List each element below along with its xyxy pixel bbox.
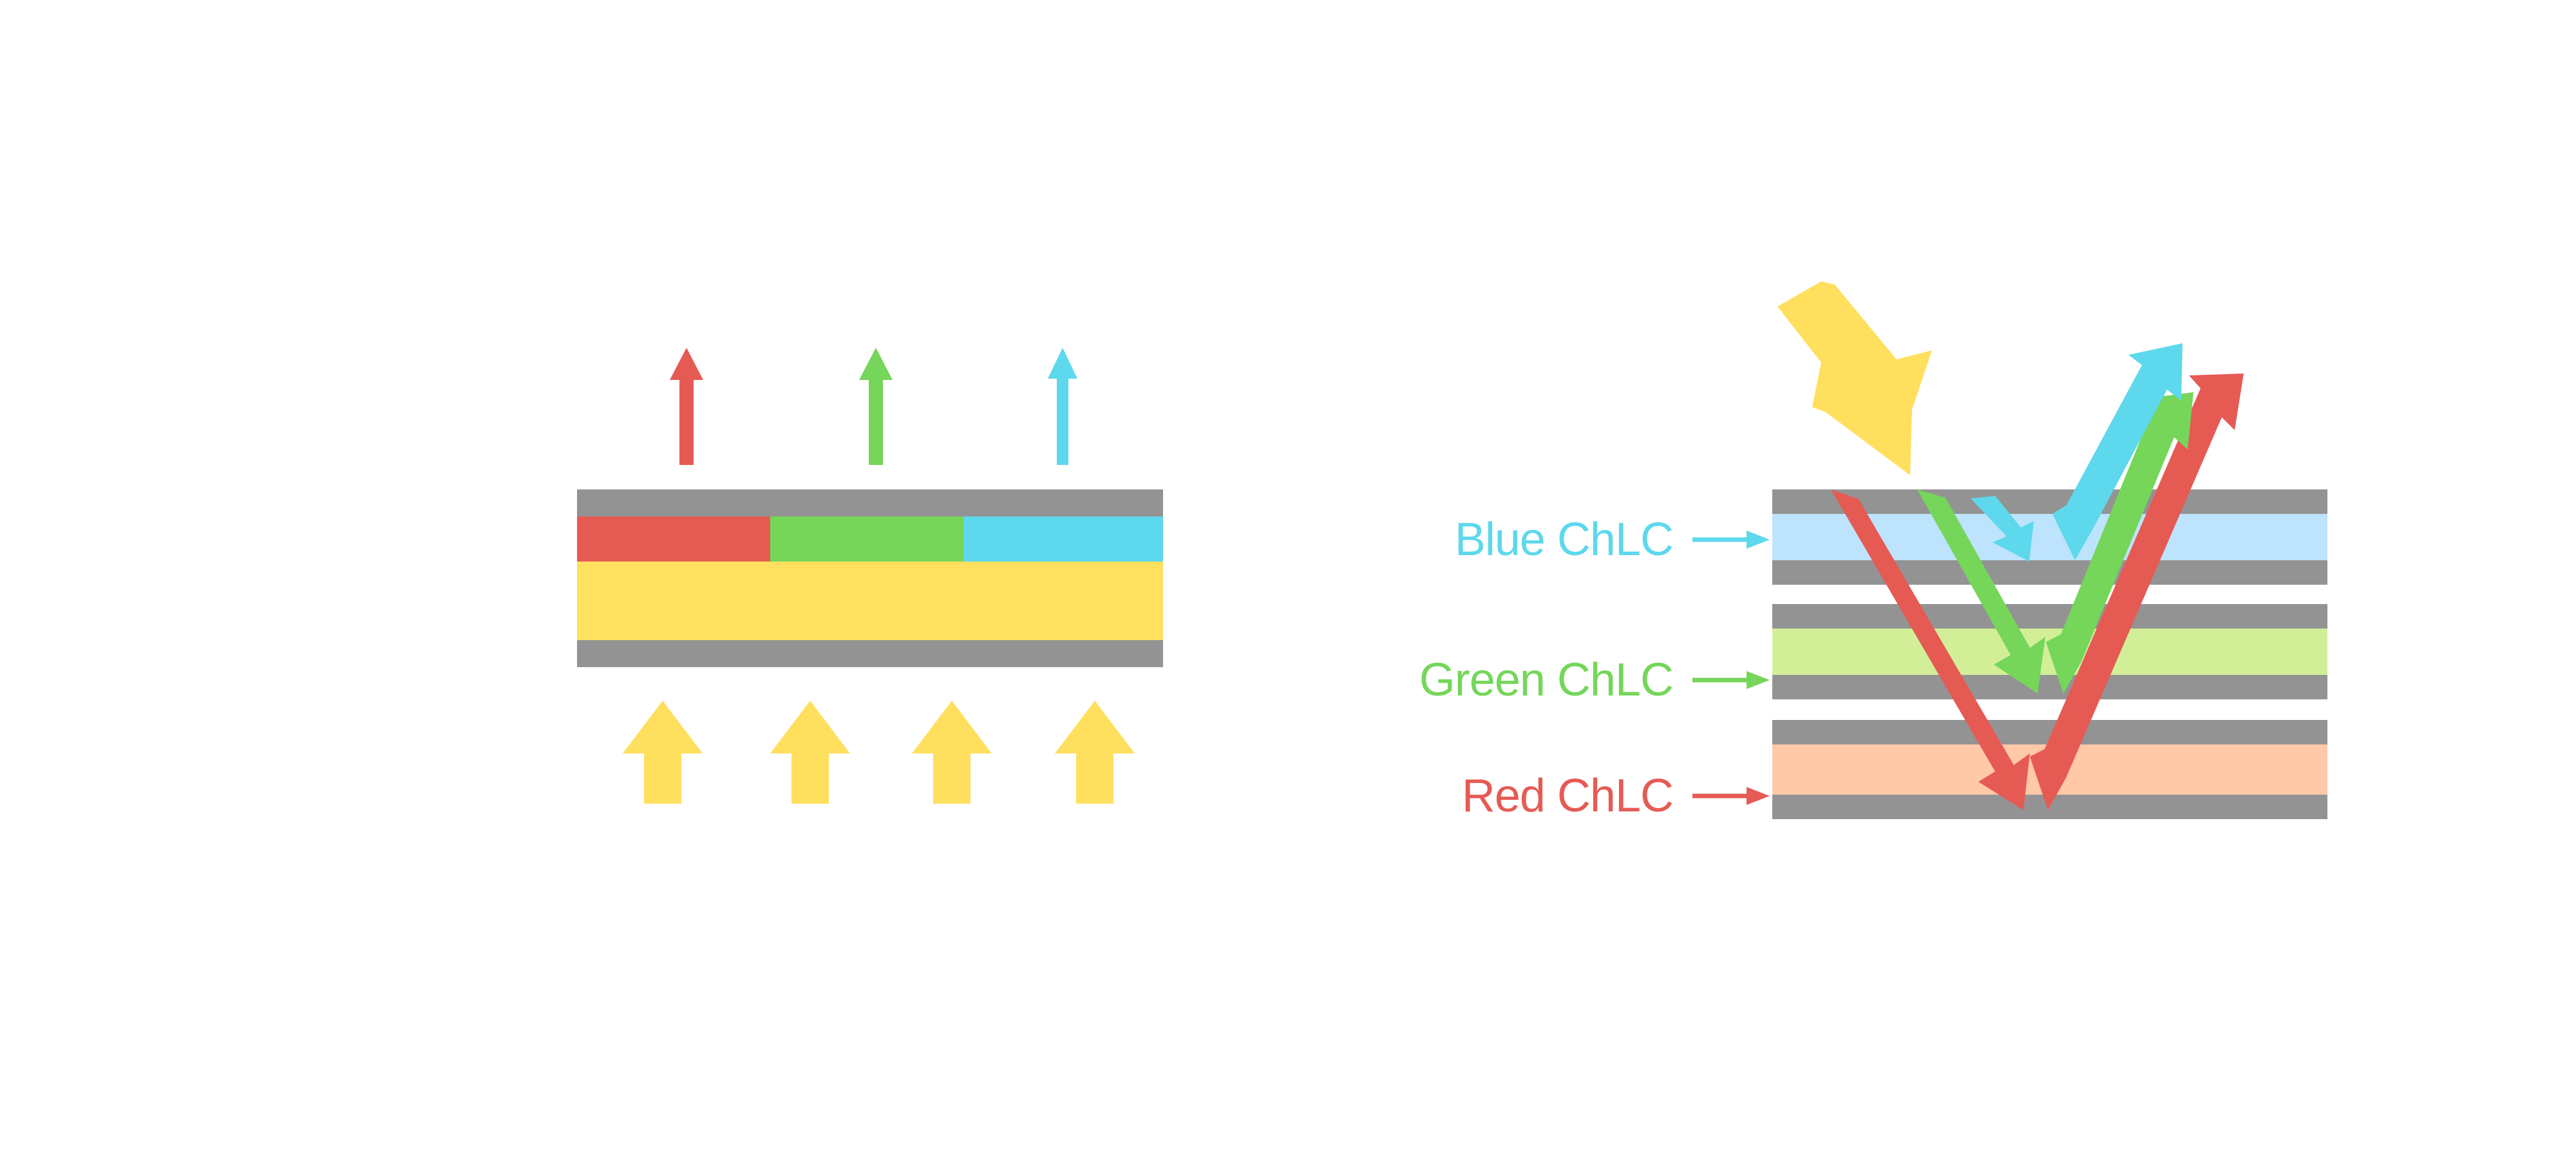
blue-cell-bottom-gray xyxy=(1772,560,2327,585)
left-blue-filter xyxy=(963,516,1163,562)
left-green-filter xyxy=(770,516,963,562)
left-backlight-arrows xyxy=(623,701,1135,804)
blue-label-arrow xyxy=(1692,531,1770,549)
green-cell-bottom-gray xyxy=(1772,675,2327,699)
blue-chlc-label: Blue ChLC xyxy=(1455,514,1673,565)
cyan-emitted-arrow xyxy=(1048,348,1077,465)
left-stack xyxy=(577,489,1163,667)
label-leader-arrows xyxy=(1692,531,1770,805)
backlight-arrow-2 xyxy=(770,701,850,804)
figure-root: Blue ChLC Green ChLC Red ChLC xyxy=(0,0,2576,1154)
backlight-arrow-3 xyxy=(912,701,992,804)
red-emitted-arrow xyxy=(670,348,703,465)
backlight-arrow-4 xyxy=(1055,701,1135,804)
incident-white-light-arrow xyxy=(1777,281,1932,475)
red-label-arrow xyxy=(1692,787,1770,805)
left-bottom-electrode xyxy=(577,640,1163,667)
diagram-canvas: Blue ChLC Green ChLC Red ChLC xyxy=(0,0,2576,1154)
left-red-filter xyxy=(577,516,770,562)
right-panel-group: Blue ChLC Green ChLC Red ChLC xyxy=(1419,281,2327,822)
green-label-arrow xyxy=(1692,671,1770,689)
left-panel-group xyxy=(577,348,1163,804)
left-backlight-layer xyxy=(577,562,1163,640)
left-top-electrode xyxy=(577,489,1163,516)
red-chlc-label: Red ChLC xyxy=(1462,770,1673,822)
backlight-arrow-1 xyxy=(623,701,703,804)
left-emitted-arrows xyxy=(670,348,1077,465)
green-emitted-arrow xyxy=(859,348,893,465)
green-chlc-label: Green ChLC xyxy=(1419,654,1673,706)
green-cell-top-gray xyxy=(1772,604,2327,629)
